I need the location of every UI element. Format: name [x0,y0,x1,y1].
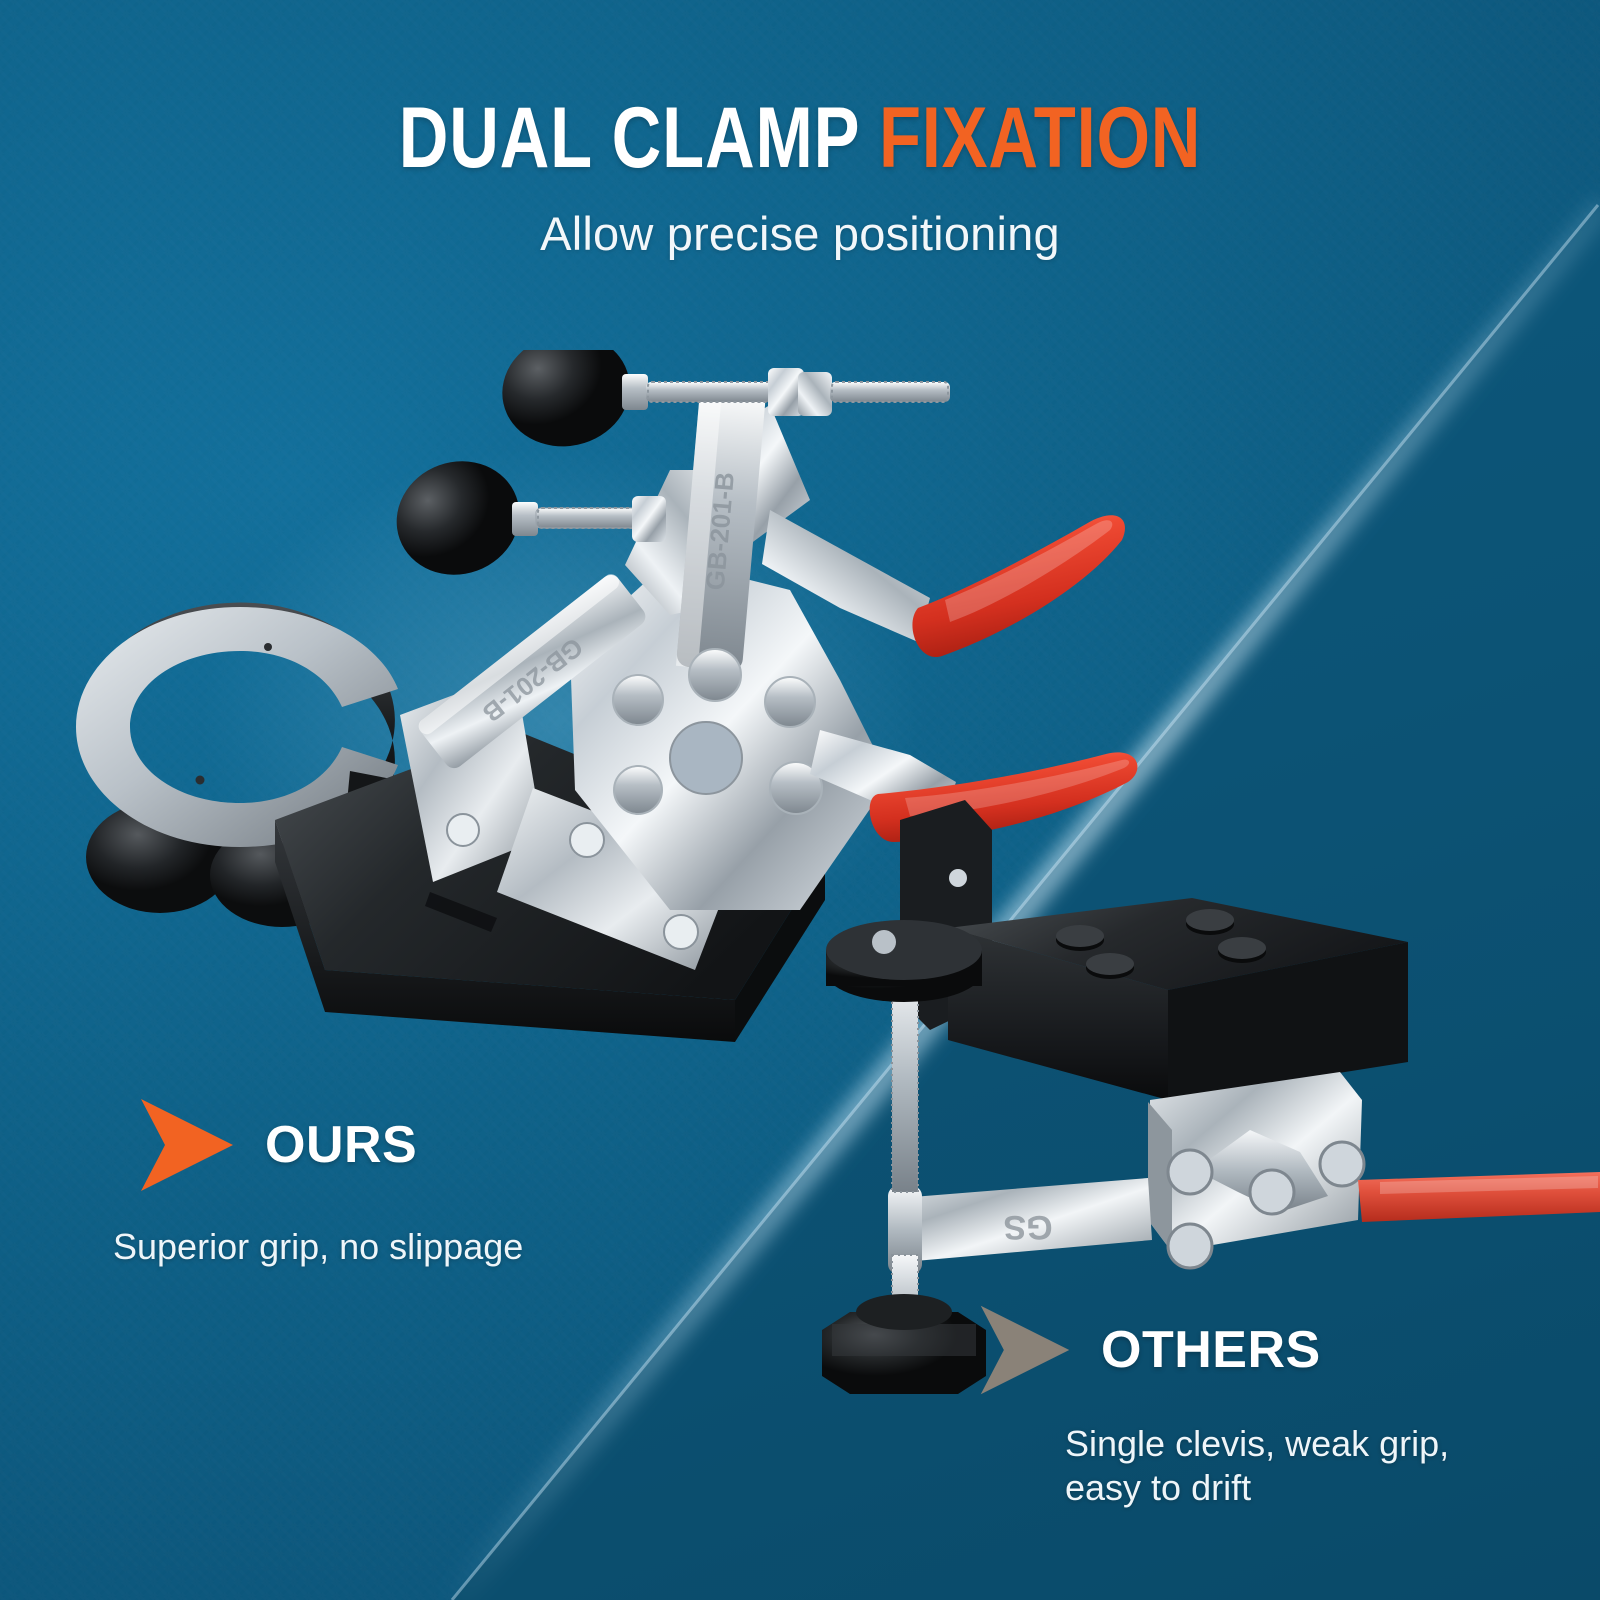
callout-ours: OURS Superior grip, no slippage [135,1093,523,1269]
title-part-primary: DUAL CLAMP [399,90,879,186]
arrow-right-icon [975,1300,1075,1400]
callout-title-ours: OURS [265,1115,417,1175]
callout-others: OTHERS Single clevis, weak grip, easy to… [975,1300,1449,1510]
callout-title-others: OTHERS [1101,1320,1321,1380]
arrow-right-icon [135,1093,239,1197]
callout-desc-others: Single clevis, weak grip, easy to drift [1065,1422,1449,1510]
callout-desc-ours: Superior grip, no slippage [113,1225,523,1269]
promo-canvas: DUAL CLAMP FIXATION Allow precise positi… [0,0,1600,1600]
page-subtitle: Allow precise positioning [0,206,1600,261]
page-title: DUAL CLAMP FIXATION [160,96,1440,180]
title-part-accent: FIXATION [879,90,1201,186]
svg-text:GS: GS [1003,1208,1052,1246]
spindle-bolt-left [381,444,666,592]
